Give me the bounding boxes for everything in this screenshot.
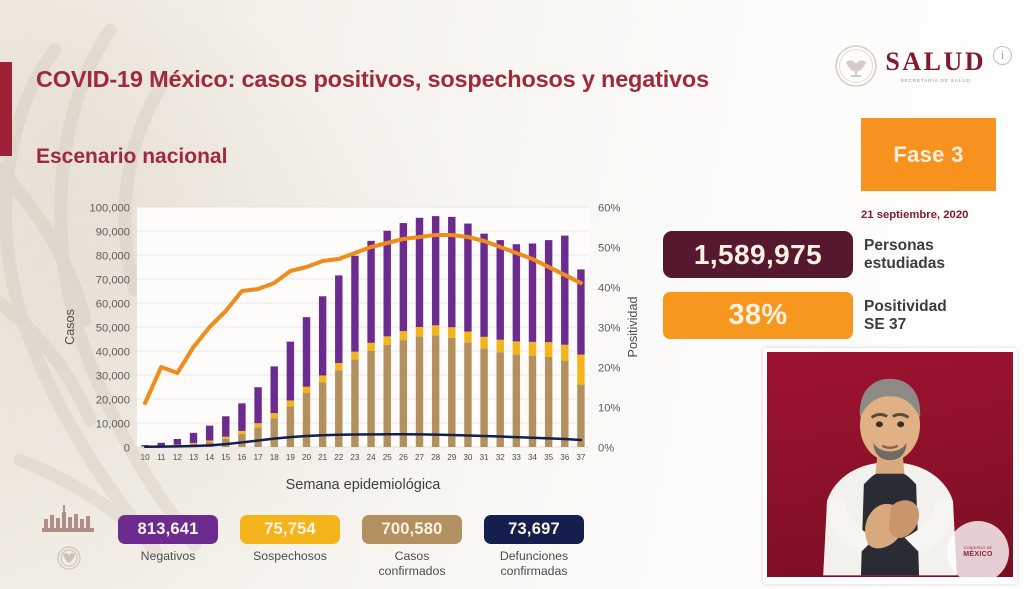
salud-logo: SALUD SECRETARÍA DE SALUD i	[834, 44, 1012, 88]
bar-segment	[335, 363, 342, 370]
bar-segment	[190, 433, 197, 443]
y2-tick-label: 10%	[598, 402, 620, 414]
bar-segment	[545, 240, 552, 342]
bar-segment	[577, 385, 584, 447]
x-tick-label: 36	[560, 453, 570, 462]
bar-segment	[254, 387, 261, 423]
x-tick-label: 25	[383, 453, 393, 462]
bar-segment	[303, 393, 310, 447]
date-label: 21 septiembre, 2020	[861, 209, 1011, 221]
legend-caption: Defunciones confirmadas	[500, 549, 568, 579]
bar-segment	[464, 224, 471, 332]
x-tick-label: 10	[141, 453, 151, 462]
y-tick-label: 70,000	[96, 274, 130, 286]
bar-segment	[254, 427, 261, 447]
x-tick-label: 14	[205, 453, 215, 462]
bar-segment	[351, 256, 358, 352]
bar-segment	[480, 349, 487, 447]
legend-item-defunciones: 73,697 Defunciones confirmadas	[484, 515, 584, 579]
bar-segment	[158, 443, 165, 446]
bar-segment	[400, 331, 407, 340]
y-tick-label: 10,000	[96, 418, 130, 430]
y-tick-label: 100,000	[90, 202, 130, 214]
slide-canvas: COVID-19 México: casos positivos, sospec…	[0, 0, 1024, 589]
bar-segment	[432, 325, 439, 335]
bar-segment	[448, 327, 455, 338]
bar-segment	[497, 240, 504, 340]
x-tick-label: 27	[415, 453, 425, 462]
bar-segment	[287, 342, 294, 401]
bar-segment	[561, 236, 568, 345]
y-tick-label: 30,000	[96, 370, 130, 382]
bar-segment	[513, 355, 520, 447]
bar-segment	[497, 340, 504, 352]
stat-caption: Personas estudiadas	[864, 237, 945, 273]
bar-segment	[287, 400, 294, 406]
legend-pill: 73,697	[484, 515, 584, 544]
x-tick-label: 13	[189, 453, 199, 462]
bar-segment	[529, 356, 536, 447]
y2-axis-label: Positividad	[626, 297, 640, 358]
stat-caption: Positividad SE 37	[864, 298, 947, 334]
x-tick-label: 35	[544, 453, 554, 462]
x-tick-label: 12	[173, 453, 183, 462]
bar-segment	[384, 345, 391, 447]
video-inner: GOBIERNO DE MÉXICO	[767, 352, 1013, 577]
bar-segment	[271, 366, 278, 413]
bar-segment	[513, 341, 520, 354]
bar-segment	[206, 441, 213, 442]
x-tick-label: 19	[286, 453, 296, 462]
bar-segment	[480, 234, 487, 337]
stat-positividad: 38% Positividad SE 37	[663, 292, 947, 339]
stat-pill: 38%	[663, 292, 853, 339]
x-tick-label: 31	[480, 453, 490, 462]
bar-segment	[367, 343, 374, 351]
bar-segment	[367, 351, 374, 447]
stat-pill: 1,589,975	[663, 231, 853, 278]
legend-caption: Casos confirmados	[379, 549, 446, 579]
bar-segment	[238, 431, 245, 434]
x-tick-label: 33	[512, 453, 522, 462]
salud-wordmark: SALUD	[885, 49, 986, 75]
bar-segment	[561, 361, 568, 447]
bar-segment	[577, 355, 584, 385]
bar-segment	[545, 342, 552, 357]
bar-segment	[513, 244, 520, 341]
bar-segment	[529, 342, 536, 356]
y-tick-label: 90,000	[96, 226, 130, 238]
x-tick-label: 26	[399, 453, 409, 462]
x-tick-label: 30	[463, 453, 473, 462]
x-tick-label: 16	[237, 453, 247, 462]
x-tick-label: 34	[528, 453, 538, 462]
y-tick-label: 50,000	[96, 322, 130, 334]
page-subtitle: Escenario nacional	[36, 145, 227, 169]
bar-segment	[190, 443, 197, 444]
gobierno-de-mexico-watermark: GOBIERNO DE MÉXICO	[947, 521, 1009, 577]
stat-value: 38%	[728, 299, 787, 332]
bar-segment	[480, 337, 487, 349]
mexico-eagle-seal-icon	[834, 44, 878, 88]
legend-caption: Sospechosos	[253, 549, 327, 564]
x-tick-label: 11	[157, 453, 166, 462]
bar-segment	[432, 335, 439, 447]
bar-segment	[448, 338, 455, 447]
legend-item-negativos: 813,641 Negativos	[118, 515, 218, 579]
bar-segment	[497, 352, 504, 447]
legend-value: 700,580	[381, 520, 442, 539]
bar-segment	[416, 337, 423, 447]
bar-segment	[335, 275, 342, 363]
accent-bar	[0, 62, 12, 156]
chart-legend: 813,641 Negativos 75,754 Sospechosos 700…	[118, 515, 618, 579]
bar-segment	[254, 423, 261, 427]
legend-value: 73,697	[508, 520, 560, 539]
bar-segment	[271, 418, 278, 447]
gob-line-1: GOBIERNO DE	[964, 546, 993, 550]
gobierno-de-mexico-logo-icon	[34, 503, 108, 575]
y2-tick-label: 60%	[598, 202, 620, 214]
x-tick-label: 37	[576, 453, 586, 462]
bar-segment	[384, 336, 391, 345]
stat-value: 1,589,975	[694, 239, 822, 271]
bar-segment	[222, 416, 229, 436]
chart-svg: 010,00020,00030,00040,00050,00060,00070,…	[36, 196, 656, 496]
bar-segment	[303, 317, 310, 387]
legend-caption: Negativos	[141, 549, 196, 564]
y2-tick-label: 0%	[598, 442, 614, 454]
bar-segment	[271, 413, 278, 418]
y2-tick-label: 30%	[598, 322, 620, 334]
bar-segment	[222, 437, 229, 439]
y2-tick-label: 40%	[598, 282, 620, 294]
page-title: COVID-19 México: casos positivos, sospec…	[36, 66, 709, 93]
x-axis-label: Semana epidemiológica	[286, 477, 442, 493]
x-tick-label: 23	[350, 453, 360, 462]
y-tick-label: 20,000	[96, 394, 130, 406]
y-axis-label: Casos	[63, 309, 77, 345]
bar-segment	[319, 382, 326, 447]
y-tick-label: 0	[124, 442, 130, 454]
bar-segment	[319, 375, 326, 382]
legend-item-casos-confirmados: 700,580 Casos confirmados	[362, 515, 462, 579]
y2-tick-label: 50%	[598, 242, 620, 254]
bar-segment	[367, 241, 374, 343]
sign-language-video[interactable]: GOBIERNO DE MÉXICO	[763, 348, 1017, 584]
salud-subtitle: SECRETARÍA DE SALUD	[901, 78, 971, 83]
legend-item-sospechosos: 75,754 Sospechosos	[240, 515, 340, 579]
covid-chart: 010,00020,00030,00040,00050,00060,00070,…	[36, 196, 656, 496]
y-tick-label: 80,000	[96, 250, 130, 262]
bar-segment	[174, 439, 181, 445]
x-tick-label: 29	[447, 453, 457, 462]
x-tick-label: 24	[367, 453, 377, 462]
bar-segment	[319, 296, 326, 375]
bar-segment	[351, 352, 358, 360]
x-tick-label: 32	[496, 453, 506, 462]
bar-segment	[238, 403, 245, 431]
bar-segment	[238, 434, 245, 447]
bar-segment	[464, 332, 471, 343]
legend-pill: 813,641	[118, 515, 218, 544]
y-tick-label: 40,000	[96, 346, 130, 358]
bar-segment	[432, 216, 439, 325]
bar-segment	[287, 406, 294, 447]
y-tick-label: 60,000	[96, 298, 130, 310]
legend-value: 75,754	[264, 520, 316, 539]
info-icon[interactable]: i	[993, 46, 1012, 65]
x-tick-label: 20	[302, 453, 312, 462]
legend-value: 813,641	[137, 520, 198, 539]
y2-tick-label: 20%	[598, 362, 620, 374]
legend-pill: 75,754	[240, 515, 340, 544]
fase-label: Fase 3	[893, 142, 963, 168]
x-tick-label: 21	[318, 453, 328, 462]
bar-segment	[464, 343, 471, 447]
x-tick-label: 22	[334, 453, 344, 462]
gob-line-2: MÉXICO	[963, 551, 992, 558]
bar-segment	[303, 387, 310, 393]
x-tick-label: 28	[431, 453, 441, 462]
x-tick-label: 15	[221, 453, 231, 462]
stat-personas-estudiadas: 1,589,975 Personas estudiadas	[663, 231, 945, 278]
bar-segment	[561, 345, 568, 361]
fase-badge: Fase 3	[861, 118, 996, 191]
bar-segment	[206, 426, 213, 441]
bar-segment	[416, 327, 423, 337]
bar-segment	[400, 340, 407, 447]
bar-segment	[416, 218, 423, 327]
bar-segment	[384, 231, 391, 337]
bar-segment	[545, 357, 552, 447]
x-tick-label: 17	[254, 453, 264, 462]
x-tick-label: 18	[270, 453, 280, 462]
legend-pill: 700,580	[362, 515, 462, 544]
